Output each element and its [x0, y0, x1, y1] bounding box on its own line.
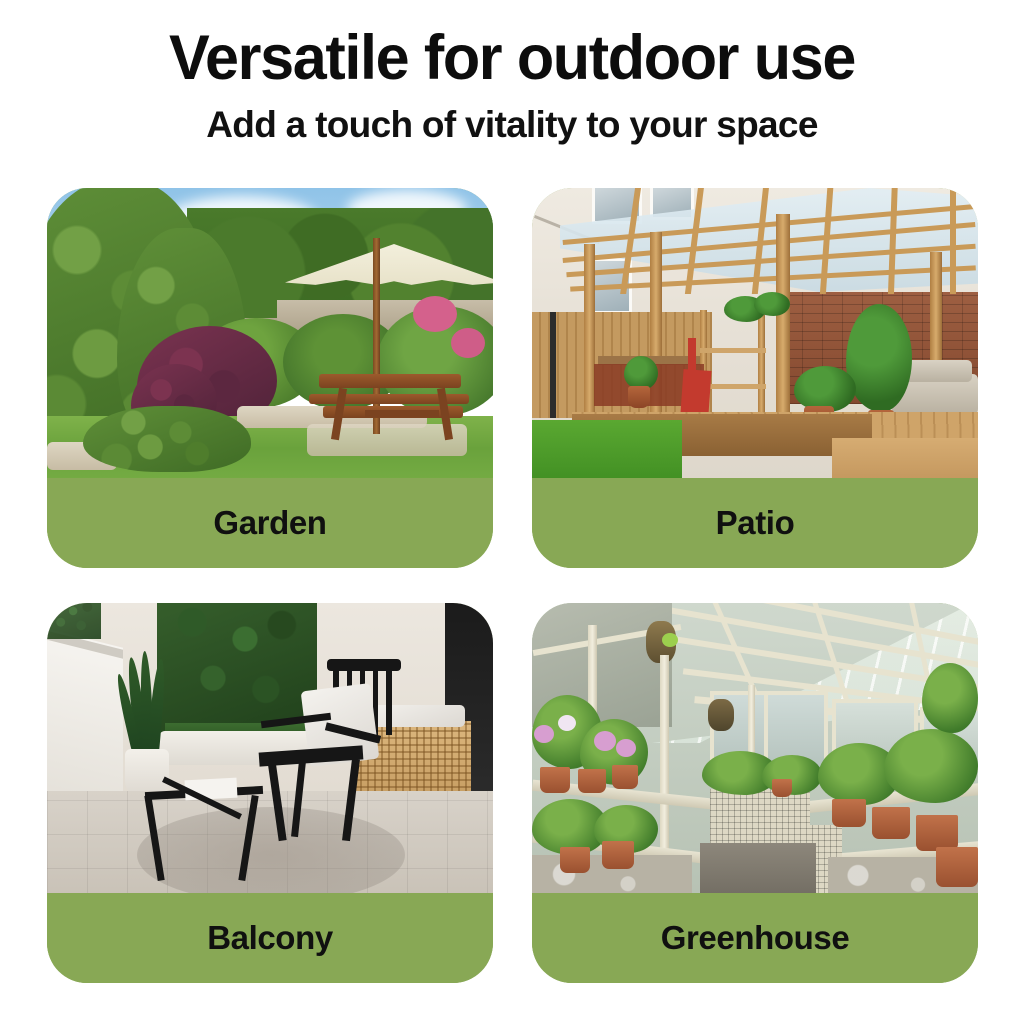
card-label-garden: Garden: [47, 478, 493, 568]
card-label-text: Balcony: [207, 919, 333, 957]
page-subtitle: Add a touch of vitality to your space: [0, 106, 1024, 145]
card-label-patio: Patio: [532, 478, 978, 568]
garden-photo: [47, 188, 493, 478]
card-label-text: Garden: [213, 504, 326, 542]
card-label-text: Greenhouse: [661, 919, 850, 957]
card-label-balcony: Balcony: [47, 893, 493, 983]
greenhouse-photo: [532, 603, 978, 893]
use-case-card-balcony[interactable]: Balcony: [47, 603, 493, 983]
use-case-card-greenhouse[interactable]: Greenhouse: [532, 603, 978, 983]
balcony-photo: [47, 603, 493, 893]
page-title: Versatile for outdoor use: [15, 26, 1008, 90]
card-label-text: Patio: [716, 504, 795, 542]
use-case-card-patio[interactable]: Patio: [532, 188, 978, 568]
use-case-card-garden[interactable]: Garden: [47, 188, 493, 568]
promo-page: Versatile for outdoor use Add a touch of…: [0, 0, 1024, 1024]
patio-photo: [532, 188, 978, 478]
card-label-greenhouse: Greenhouse: [532, 893, 978, 983]
header: Versatile for outdoor use Add a touch of…: [0, 0, 1024, 145]
use-case-grid: Garden: [47, 188, 978, 983]
